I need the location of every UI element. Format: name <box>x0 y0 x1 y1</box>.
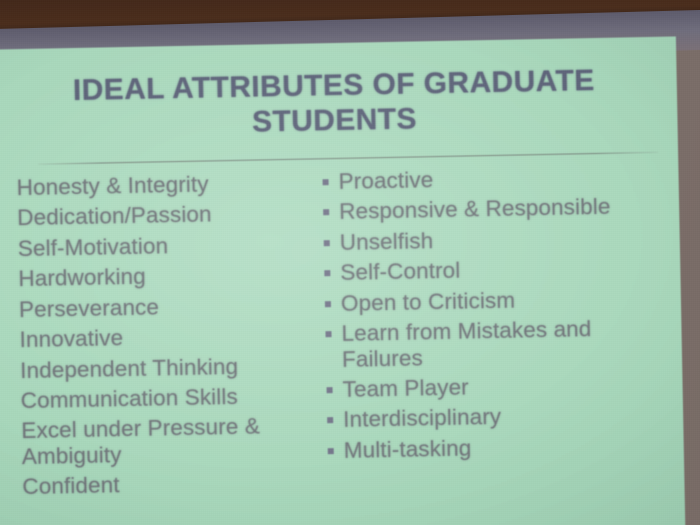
list-item-label: Self-Motivation <box>18 233 169 261</box>
list-item-label: Independent Thinking <box>20 353 238 382</box>
bullet-columns: Honesty & Integrity Dedication/Passion S… <box>2 162 678 175</box>
list-item-label: Perseverance <box>19 294 159 322</box>
title-divider <box>38 152 658 165</box>
list-item-label: Unselfish <box>340 228 434 255</box>
slide-title: IDEAL ATTRIBUTES OF GRADUATE STUDENTS <box>8 63 659 145</box>
square-bullet-icon <box>324 240 330 246</box>
list-item: Independent Thinking <box>0 352 314 384</box>
list-item-label: Proactive <box>338 167 433 194</box>
list-item-label: Responsive & Responsible <box>339 194 611 224</box>
square-bullet-icon <box>327 417 333 423</box>
list-item: Team Player <box>316 370 676 402</box>
list-item: Self-Motivation <box>0 230 312 262</box>
list-item: Learn from Mistakes and Failures <box>315 315 676 373</box>
slide-content: IDEAL ATTRIBUTES OF GRADUATE STUDENTS Ho… <box>0 36 686 525</box>
list-item-label: Hardworking <box>18 264 146 291</box>
square-bullet-icon <box>325 331 331 337</box>
right-bullet-column: Proactive Responsive & Responsible Unsel… <box>312 163 678 469</box>
list-item: Multi-tasking <box>318 431 678 463</box>
list-item: Interdisciplinary <box>317 401 677 433</box>
projected-slide: IDEAL ATTRIBUTES OF GRADUATE STUDENTS Ho… <box>0 36 686 525</box>
list-item: Communication Skills <box>0 382 315 414</box>
right-bullet-list: Proactive Responsive & Responsible Unsel… <box>312 163 678 464</box>
list-item-label: Team Player <box>342 374 469 401</box>
list-item-label: Self-Control <box>340 258 460 285</box>
list-item-label: Communication Skills <box>20 384 238 413</box>
square-bullet-icon <box>323 179 329 185</box>
list-item-label: Excel under Pressure & Ambiguity <box>21 414 260 469</box>
list-item: Unselfish <box>314 223 674 255</box>
list-item-label: Interdisciplinary <box>343 404 501 432</box>
list-item: Excel under Pressure & Ambiguity <box>0 413 316 470</box>
list-item: Self-Control <box>314 254 674 286</box>
left-bullet-list: Honesty & Integrity Dedication/Passion S… <box>0 169 317 500</box>
list-item: Innovative <box>0 322 314 354</box>
list-item-label: Confident <box>22 472 120 499</box>
list-item: Open to Criticism <box>315 284 675 316</box>
list-item: Responsive & Responsible <box>313 193 673 225</box>
list-item: Proactive <box>312 163 672 195</box>
list-item: Honesty & Integrity <box>0 169 311 201</box>
square-bullet-icon <box>323 210 329 216</box>
list-item-label: Honesty & Integrity <box>16 171 208 200</box>
list-item-label: Open to Criticism <box>341 287 516 315</box>
list-item-label: Innovative <box>19 325 123 352</box>
left-bullet-column: Honesty & Integrity Dedication/Passion S… <box>0 169 317 505</box>
list-item: Dedication/Passion <box>0 200 311 232</box>
square-bullet-icon <box>328 448 334 454</box>
square-bullet-icon <box>327 387 333 393</box>
slide-photograph: IDEAL ATTRIBUTES OF GRADUATE STUDENTS Ho… <box>0 0 700 525</box>
list-item-label: Multi-tasking <box>344 435 472 462</box>
square-bullet-icon <box>325 301 331 307</box>
list-item: Hardworking <box>0 261 313 293</box>
list-item: Perseverance <box>0 291 313 323</box>
list-item-label: Learn from Mistakes and Failures <box>341 316 591 371</box>
list-item: Confident <box>0 469 317 501</box>
square-bullet-icon <box>324 270 330 276</box>
list-item-label: Dedication/Passion <box>17 202 212 231</box>
